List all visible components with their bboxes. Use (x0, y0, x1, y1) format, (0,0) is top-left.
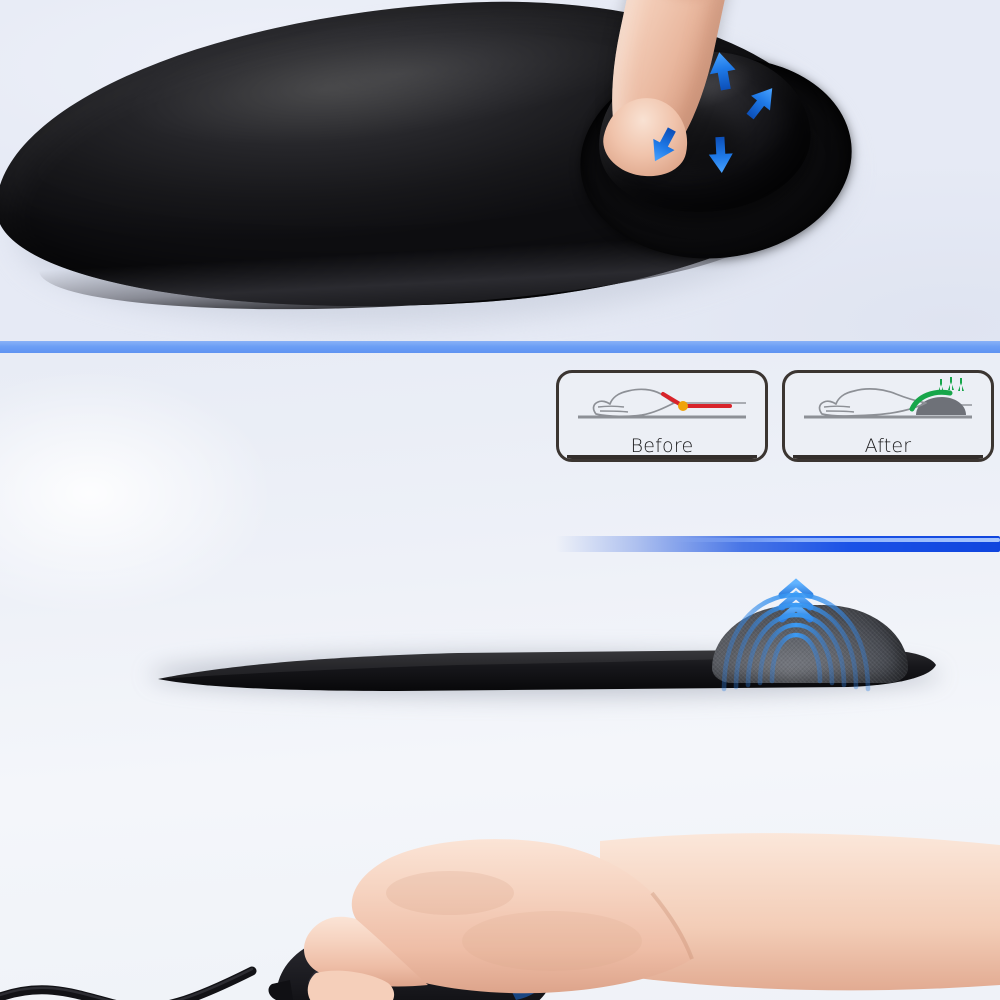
wrist-rest-dome-icon (916, 397, 966, 415)
hero-product-panel (0, 0, 1000, 341)
background-glow (0, 373, 270, 613)
cushion-support-ripples (700, 549, 926, 699)
before-rule (567, 455, 757, 459)
memory-foam-rebound-arrows (600, 40, 840, 230)
section-divider (0, 341, 1000, 353)
before-after-comparison: Before (556, 370, 994, 462)
usage-scene-panel: Before (0, 353, 1000, 1000)
comparison-card-after: After (782, 370, 994, 462)
comparison-card-before: Before (556, 370, 768, 462)
before-illustration (559, 373, 765, 431)
arrow-up-icon (706, 50, 738, 92)
arrow-down-icon (708, 136, 734, 173)
arrow-down-left-icon (644, 124, 682, 167)
arrow-up-right-icon (741, 81, 782, 124)
right-hand-on-mouse (300, 823, 1000, 1000)
after-illustration (785, 373, 991, 431)
after-rule (793, 455, 983, 459)
